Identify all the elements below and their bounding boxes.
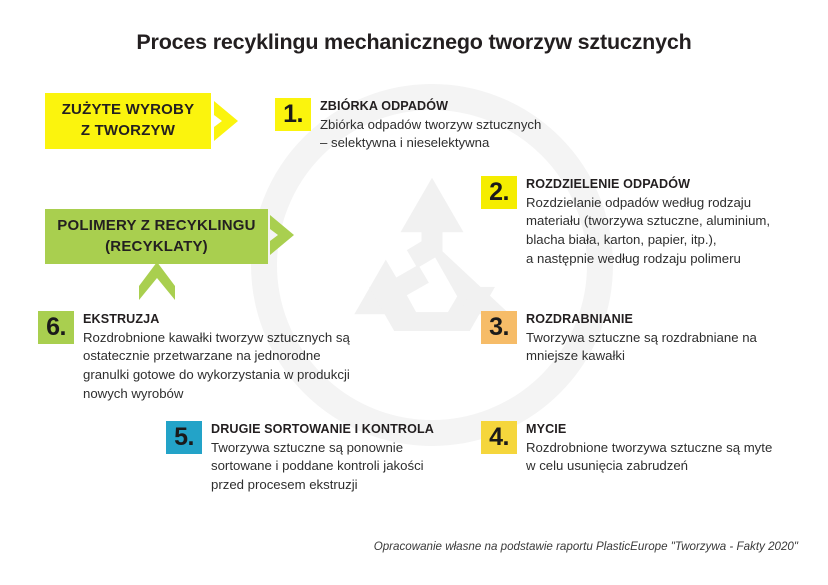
step-5: 5. DRUGIE SORTOWANIE I KONTROLA Tworzywa… xyxy=(166,421,434,495)
step-5-number: 5. xyxy=(166,421,202,454)
banner-input-waste: ZUŻYTE WYROBY Z TWORZYW xyxy=(45,93,211,149)
step-4-body: MYCIE Rozdrobnione tworzywa sztuczne są … xyxy=(517,421,772,476)
step-1: 1. ZBIÓRKA ODPADÓW Zbiórka odpadów tworz… xyxy=(275,98,541,153)
source-attribution: Opracowanie własne na podstawie raportu … xyxy=(374,540,798,553)
step-6-title: EKSTRUZJA xyxy=(83,311,350,328)
recycling-watermark xyxy=(0,0,828,585)
step-4-number: 4. xyxy=(481,421,517,454)
step-2-title: ROZDZIELENIE ODPADÓW xyxy=(526,176,770,193)
banner-output-line2: (RECYKLATY) xyxy=(57,237,255,258)
step-2: 2. ROZDZIELENIE ODPADÓW Rozdzielanie odp… xyxy=(481,176,770,269)
step-6-body: EKSTRUZJA Rozdrobnione kawałki tworzyw s… xyxy=(74,311,350,404)
banner-output-recyclate: POLIMERY Z RECYKLINGU (RECYKLATY) xyxy=(45,209,268,264)
banner-input-line2: Z TWORZYW xyxy=(62,121,195,142)
step-6: 6. EKSTRUZJA Rozdrobnione kawałki tworzy… xyxy=(38,311,350,404)
banner-output-line1: POLIMERY Z RECYKLINGU xyxy=(57,216,255,237)
step-1-description: Zbiórka odpadów tworzyw sztucznych – sel… xyxy=(320,115,541,153)
step-2-number: 2. xyxy=(481,176,517,209)
step-3-body: ROZDRABNIANIE Tworzywa sztuczne są rozdr… xyxy=(517,311,757,366)
arrow-right-green-icon xyxy=(268,211,316,259)
step-4: 4. MYCIE Rozdrobnione tworzywa sztuczne … xyxy=(481,421,772,476)
step-5-description: Tworzywa sztuczne są ponownie sortowane … xyxy=(211,438,434,495)
step-1-body: ZBIÓRKA ODPADÓW Zbiórka odpadów tworzyw … xyxy=(311,98,541,153)
step-5-title: DRUGIE SORTOWANIE I KONTROLA xyxy=(211,421,434,438)
step-4-description: Rozdrobnione tworzywa sztuczne są myte w… xyxy=(526,438,772,476)
step-2-description: Rozdzielanie odpadów według rodzaju mate… xyxy=(526,193,770,269)
step-1-title: ZBIÓRKA ODPADÓW xyxy=(320,98,541,115)
arrow-right-yellow-icon xyxy=(212,97,260,145)
banner-input-line1: ZUŻYTE WYROBY xyxy=(62,100,195,121)
step-2-body: ROZDZIELENIE ODPADÓW Rozdzielanie odpadó… xyxy=(517,176,770,269)
step-3-number: 3. xyxy=(481,311,517,344)
step-5-body: DRUGIE SORTOWANIE I KONTROLA Tworzywa sz… xyxy=(202,421,434,495)
step-1-number: 1. xyxy=(275,98,311,131)
step-4-title: MYCIE xyxy=(526,421,772,438)
step-6-number: 6. xyxy=(38,311,74,344)
step-3-title: ROZDRABNIANIE xyxy=(526,311,757,328)
step-6-description: Rozdrobnione kawałki tworzyw sztucznych … xyxy=(83,328,350,404)
step-3: 3. ROZDRABNIANIE Tworzywa sztuczne są ro… xyxy=(481,311,757,366)
page-title: Proces recyklingu mechanicznego tworzyw … xyxy=(0,30,828,55)
infographic-canvas: Proces recyklingu mechanicznego tworzyw … xyxy=(0,0,828,585)
arrow-up-green-icon xyxy=(136,260,178,302)
step-3-description: Tworzywa sztuczne są rozdrabniane na mni… xyxy=(526,328,757,366)
